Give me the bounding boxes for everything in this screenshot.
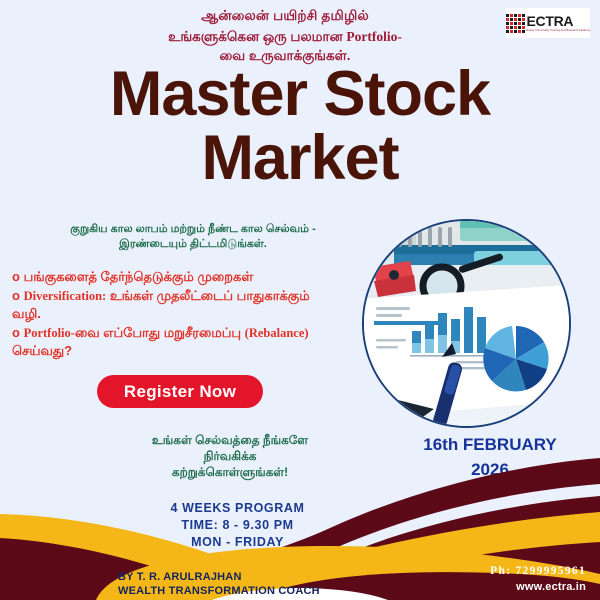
- bullet-latin: Portfolio-: [24, 326, 75, 340]
- logo-tagline: Equity Commodity Training And Research A…: [527, 30, 591, 33]
- header-line-2-latin: Portfolio-: [346, 29, 401, 44]
- register-button[interactable]: Register Now: [97, 375, 263, 408]
- green-subtitle-line-1: குறுகிய கால லாபம் மற்றும் நீண்ட கால செல்…: [38, 222, 348, 237]
- topics-list: o பங்குகளைத் தேர்ந்தெடுக்கும் முறைகள் o …: [12, 268, 332, 361]
- bullet-text-2: செய்வது?: [12, 343, 72, 358]
- contact-phone[interactable]: Ph: 7299995961: [490, 563, 586, 579]
- page-title: Master Stock Market: [0, 62, 600, 190]
- logo-name: ECTRA: [527, 14, 591, 28]
- header-line-1: ஆன்லைன் பயிற்சி தமிழில்: [60, 6, 510, 25]
- bullet-marker: o: [12, 325, 20, 340]
- dot-matrix-logo-icon: [506, 14, 525, 33]
- bullet-text: வை எப்போது மறுசீரமைப்பு: [75, 325, 245, 340]
- list-item: o Portfolio-வை எப்போது மறுசீரமைப்பு (Reb…: [12, 324, 332, 360]
- bullet-latin-2: (Rebalance): [245, 326, 309, 340]
- title-line-2: Market: [0, 126, 600, 190]
- stock-market-charts-photo: [362, 219, 571, 428]
- header-line-2: உங்களுக்கென ஒரு பலமான Portfolio-: [60, 27, 510, 46]
- contact-website[interactable]: www.ectra.in: [490, 579, 586, 595]
- ectra-logo: ECTRA Equity Commodity Training And Rese…: [506, 8, 590, 38]
- bullet-marker: o: [12, 269, 20, 284]
- bullet-text: பங்குகளைத் தேர்ந்தெடுக்கும் முறைகள்: [24, 269, 253, 284]
- green-cta-line-1: உங்கள் செல்வத்தை நீங்களே: [90, 432, 370, 448]
- header-line-2-tamil: உங்களுக்கென ஒரு பலமான: [168, 29, 346, 44]
- list-item: o Diversification: உங்கள் முதலீட்டைப் பா…: [12, 287, 332, 323]
- contact-block: Ph: 7299995961 www.ectra.in: [490, 563, 586, 595]
- list-item: o பங்குகளைத் தேர்ந்தெடுக்கும் முறைகள்: [12, 268, 332, 286]
- bullet-marker: o: [12, 288, 20, 303]
- presenter-name: BY T. R. ARULRAJHAN: [118, 571, 320, 585]
- bullet-latin: Diversification:: [24, 289, 107, 303]
- green-subtitle-line-2: இரண்டையும் திட்டமிடுங்கள்.: [38, 237, 348, 252]
- title-line-1: Master Stock: [110, 59, 490, 129]
- presenter-role: WEALTH TRANSFORMATION COACH: [118, 585, 320, 599]
- presenter-block: BY T. R. ARULRAJHAN WEALTH TRANSFORMATIO…: [118, 571, 320, 598]
- poster-canvas: ஆன்லைன் பயிற்சி தமிழில் உங்களுக்கென ஒரு …: [0, 0, 600, 600]
- green-subtitle: குறுகிய கால லாபம் மற்றும் நீண்ட கால செல்…: [38, 222, 348, 252]
